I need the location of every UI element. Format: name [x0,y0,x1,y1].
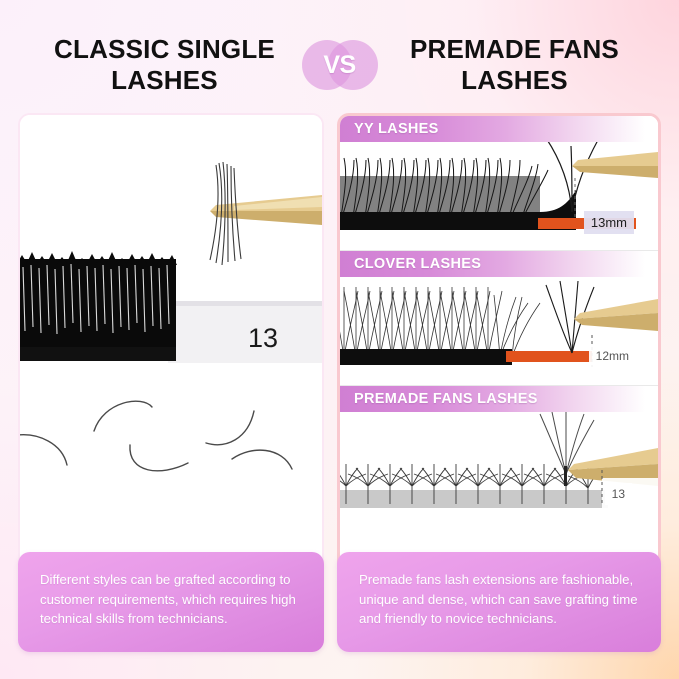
panel-premade-fans-lashes: YY LASHES [337,113,661,623]
section-yy-lashes: YY LASHES [340,116,658,251]
measure-label-yy-lashes: 13mm [584,211,634,234]
vs-badge: VS [300,34,380,96]
strip-base [340,490,608,508]
individual-lash-curves-photo [20,373,322,521]
svg-text:13: 13 [248,323,278,353]
section-clover-lashes: CLOVER LASHES [340,251,658,386]
left-heading: CLASSIC SINGLE LASHES [30,34,300,96]
measure-label-clover-lashes: 12mm [589,345,636,367]
classic-lash-tray-photo: 13 [20,115,322,373]
vs-label: VS [323,51,355,80]
section-premade-fans-lashes: PREMADE FANS LASHES [340,386,658,521]
caption-classic-single-lashes: Different styles can be grafted accordin… [18,552,324,652]
right-heading: PREMADE FANS LASHES [380,34,650,96]
individual-lash-curves-illustration [20,373,322,521]
section-label-yy-lashes: YY LASHES [340,116,658,142]
section-label-clover-lashes: CLOVER LASHES [340,251,658,277]
measure-card: 13 [168,301,322,363]
header: CLASSIC SINGLE LASHES VS PREMADE FANS LA… [0,30,679,100]
comparison-infographic: CLASSIC SINGLE LASHES VS PREMADE FANS LA… [0,0,679,679]
section-label-premade-fans-lashes: PREMADE FANS LASHES [340,386,658,412]
measure-label-premade-fans: 13 [605,483,632,505]
panel-classic-single-lashes: 13 [18,113,324,623]
lash-strip-block [20,251,177,361]
caption-premade-fans-lashes: Premade fans lash extensions are fashion… [337,552,661,652]
classic-lash-tray-illustration: 13 [20,115,322,373]
